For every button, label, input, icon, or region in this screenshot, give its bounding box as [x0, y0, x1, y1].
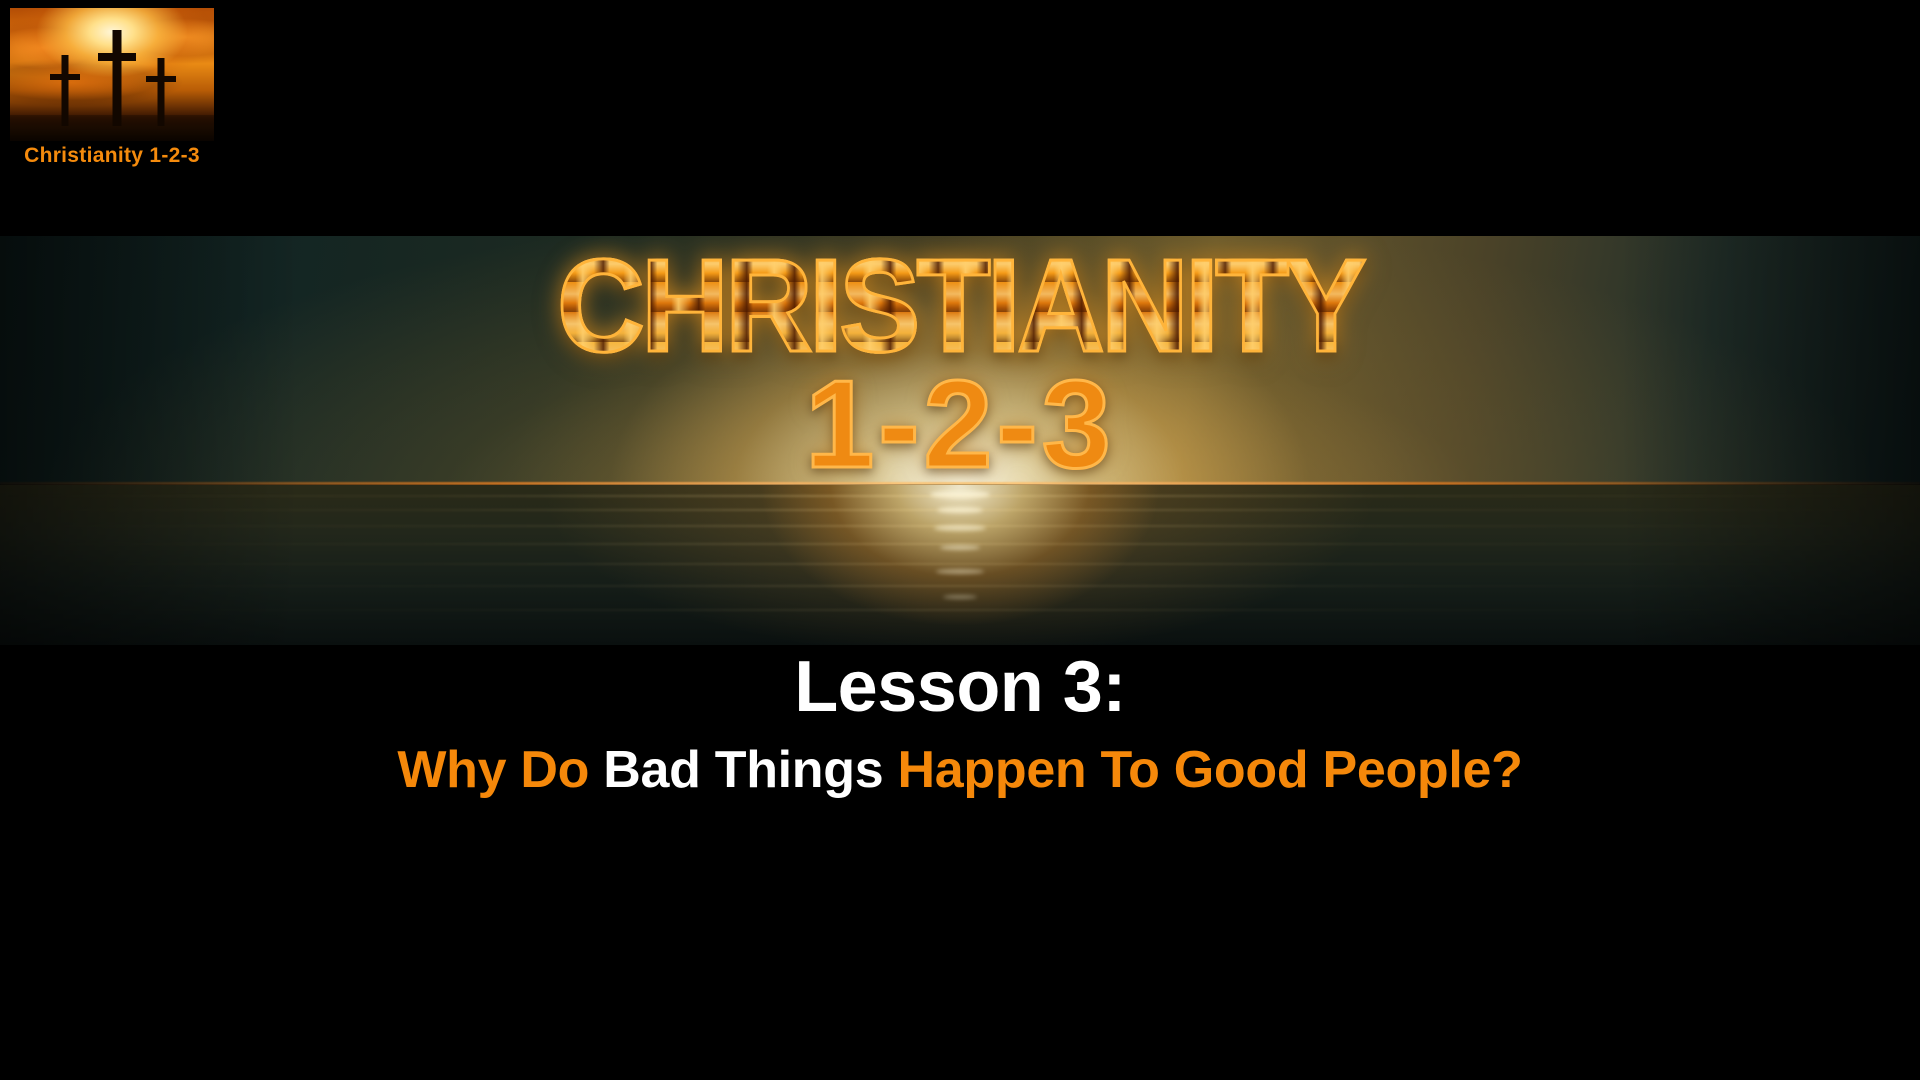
lesson-subtitle: Why Do Bad Things Happen To Good People? [0, 742, 1920, 799]
hero-banner: CHRISTIANITY 1-2-3 [0, 236, 1920, 645]
lesson-title: Lesson 3: [0, 650, 1920, 726]
cross-center-icon [98, 30, 136, 126]
lesson-text-block: Lesson 3: Why Do Bad Things Happen To Go… [0, 650, 1920, 799]
cross-left-icon [50, 55, 80, 126]
thumbnail-label: Christianity 1-2-3 [10, 144, 214, 168]
christianity-123-thumbnail-image[interactable] [10, 8, 214, 141]
lesson-subtitle-part-3: Happen To Good People? [898, 741, 1523, 799]
lesson-subtitle-part-2: Bad Things [603, 741, 897, 799]
hero-sea [0, 485, 1920, 645]
lesson-subtitle-part-1: Why Do [397, 741, 603, 799]
cross-right-icon [146, 58, 176, 126]
thumbnail-card[interactable]: Christianity 1-2-3 [10, 8, 214, 168]
